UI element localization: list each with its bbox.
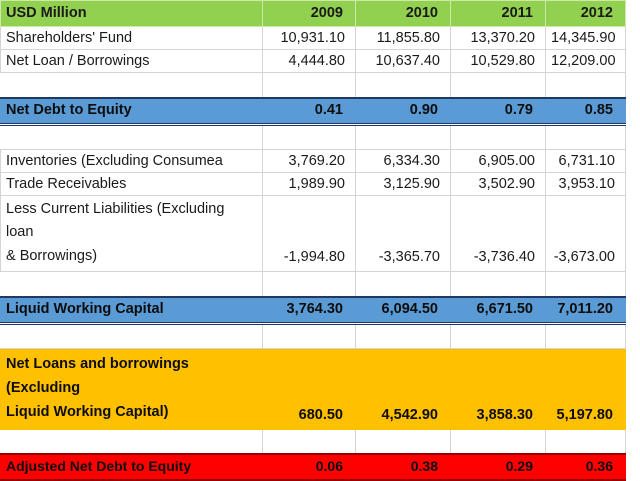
row-label-text: USD Million bbox=[6, 4, 257, 23]
table-spacer-row bbox=[1, 272, 626, 297]
row-label: Net Loan / Borrowings bbox=[1, 50, 263, 73]
row-value: 0.06 bbox=[263, 454, 356, 480]
row-value: -3,365.70 bbox=[356, 196, 451, 272]
row-value bbox=[451, 73, 546, 98]
row-value: 5,197.80 bbox=[546, 349, 626, 430]
row-value bbox=[546, 429, 626, 454]
table-spacer-row bbox=[1, 324, 626, 349]
row-value: 680.50 bbox=[263, 349, 356, 430]
column-header-year: 2011 bbox=[451, 1, 546, 27]
row-value: -3,673.00 bbox=[546, 196, 626, 272]
table-row: Liquid Working Capital3,764.306,094.506,… bbox=[1, 297, 626, 324]
row-label bbox=[1, 324, 263, 349]
row-label-line: loan bbox=[6, 221, 257, 244]
row-value bbox=[263, 125, 356, 150]
row-value: -3,736.40 bbox=[451, 196, 546, 272]
row-value: 12,209.00 bbox=[546, 50, 626, 73]
row-label-multiline: Net Loans and borrowings(ExcludingLiquid… bbox=[1, 349, 263, 430]
table-spacer-row bbox=[1, 125, 626, 150]
row-label-line: (Excluding bbox=[6, 377, 257, 401]
row-value bbox=[356, 73, 451, 98]
row-label-line: Liquid Working Capital) bbox=[6, 401, 257, 425]
row-label-text: Liquid Working Capital bbox=[6, 300, 257, 319]
row-value: 6,334.30 bbox=[356, 150, 451, 173]
row-value bbox=[451, 429, 546, 454]
row-label-text: Net Debt to Equity bbox=[6, 101, 257, 120]
table-header-row: USD Million2009201020112012 bbox=[1, 1, 626, 27]
row-value: 14,345.90 bbox=[546, 27, 626, 50]
row-value bbox=[451, 272, 546, 297]
row-label: Shareholders' Fund bbox=[1, 27, 263, 50]
row-value: 6,671.50 bbox=[451, 297, 546, 324]
row-value: 0.29 bbox=[451, 454, 546, 480]
row-value: 3,125.90 bbox=[356, 173, 451, 196]
row-value bbox=[546, 272, 626, 297]
table-spacer-row bbox=[1, 73, 626, 98]
row-label-text: Trade Receivables bbox=[6, 175, 257, 194]
row-value: 3,502.90 bbox=[451, 173, 546, 196]
table-row: Trade Receivables1,989.903,125.903,502.9… bbox=[1, 173, 626, 196]
table-row: Less Current Liabilities (Excludingloan&… bbox=[1, 196, 626, 272]
column-header-year: 2012 bbox=[546, 1, 626, 27]
row-value bbox=[263, 73, 356, 98]
row-value bbox=[356, 272, 451, 297]
row-label-text: Net Loan / Borrowings bbox=[6, 52, 257, 71]
table-row: Net Loan / Borrowings4,444.8010,637.4010… bbox=[1, 50, 626, 73]
row-value: 4,542.90 bbox=[356, 349, 451, 430]
row-label-multiline: Less Current Liabilities (Excludingloan&… bbox=[1, 196, 263, 272]
row-label bbox=[1, 125, 263, 150]
row-label: Liquid Working Capital bbox=[1, 297, 263, 324]
row-value bbox=[356, 125, 451, 150]
row-value: 7,011.20 bbox=[546, 297, 626, 324]
row-label-line: Less Current Liabilities (Excluding bbox=[6, 198, 257, 221]
row-label-text: Shareholders' Fund bbox=[6, 29, 257, 48]
row-value bbox=[451, 324, 546, 349]
row-label-text: Inventories (Excluding Consumea bbox=[6, 152, 257, 171]
row-value bbox=[451, 125, 546, 150]
row-value: -1,994.80 bbox=[263, 196, 356, 272]
row-value bbox=[263, 324, 356, 349]
row-label: Net Debt to Equity bbox=[1, 98, 263, 125]
row-value: 10,931.10 bbox=[263, 27, 356, 50]
row-label-line: & Borrowings) bbox=[6, 245, 257, 268]
spreadsheet-canvas: USD Million2009201020112012Shareholders'… bbox=[0, 0, 640, 481]
row-value: 0.38 bbox=[356, 454, 451, 480]
row-value: 0.36 bbox=[546, 454, 626, 480]
table-corner-title: USD Million bbox=[1, 1, 263, 27]
row-value bbox=[546, 73, 626, 98]
row-value: 6,094.50 bbox=[356, 297, 451, 324]
row-label bbox=[1, 73, 263, 98]
row-value: 3,858.30 bbox=[451, 349, 546, 430]
table-row: Net Loans and borrowings(ExcludingLiquid… bbox=[1, 349, 626, 430]
row-value bbox=[263, 429, 356, 454]
row-value: 0.79 bbox=[451, 98, 546, 125]
row-value: 0.90 bbox=[356, 98, 451, 125]
row-value: 6,905.00 bbox=[451, 150, 546, 173]
row-value: 3,764.30 bbox=[263, 297, 356, 324]
row-value bbox=[356, 429, 451, 454]
column-header-year: 2009 bbox=[263, 1, 356, 27]
row-label: Inventories (Excluding Consumea bbox=[1, 150, 263, 173]
row-value: 10,529.80 bbox=[451, 50, 546, 73]
table-row: Adjusted Net Debt to Equity0.060.380.290… bbox=[1, 454, 626, 480]
column-header-year: 2010 bbox=[356, 1, 451, 27]
row-value: 11,855.80 bbox=[356, 27, 451, 50]
row-value: 13,370.20 bbox=[451, 27, 546, 50]
row-value bbox=[356, 324, 451, 349]
row-label bbox=[1, 429, 263, 454]
row-value: 3,769.20 bbox=[263, 150, 356, 173]
table-row: Net Debt to Equity0.410.900.790.85 bbox=[1, 98, 626, 125]
row-label-text: Adjusted Net Debt to Equity bbox=[6, 458, 257, 476]
row-value: 0.85 bbox=[546, 98, 626, 125]
financial-table: USD Million2009201020112012Shareholders'… bbox=[0, 0, 626, 481]
table-spacer-row bbox=[1, 429, 626, 454]
table-row: Shareholders' Fund10,931.1011,855.8013,3… bbox=[1, 27, 626, 50]
row-label: Trade Receivables bbox=[1, 173, 263, 196]
row-label: Adjusted Net Debt to Equity bbox=[1, 454, 263, 480]
row-value bbox=[546, 324, 626, 349]
row-value bbox=[546, 125, 626, 150]
row-value: 0.41 bbox=[263, 98, 356, 125]
row-label bbox=[1, 272, 263, 297]
row-value: 3,953.10 bbox=[546, 173, 626, 196]
table-row: Inventories (Excluding Consumea3,769.206… bbox=[1, 150, 626, 173]
row-value bbox=[263, 272, 356, 297]
row-label-line: Net Loans and borrowings bbox=[6, 353, 257, 377]
row-value: 1,989.90 bbox=[263, 173, 356, 196]
row-value: 4,444.80 bbox=[263, 50, 356, 73]
row-value: 6,731.10 bbox=[546, 150, 626, 173]
row-value: 10,637.40 bbox=[356, 50, 451, 73]
